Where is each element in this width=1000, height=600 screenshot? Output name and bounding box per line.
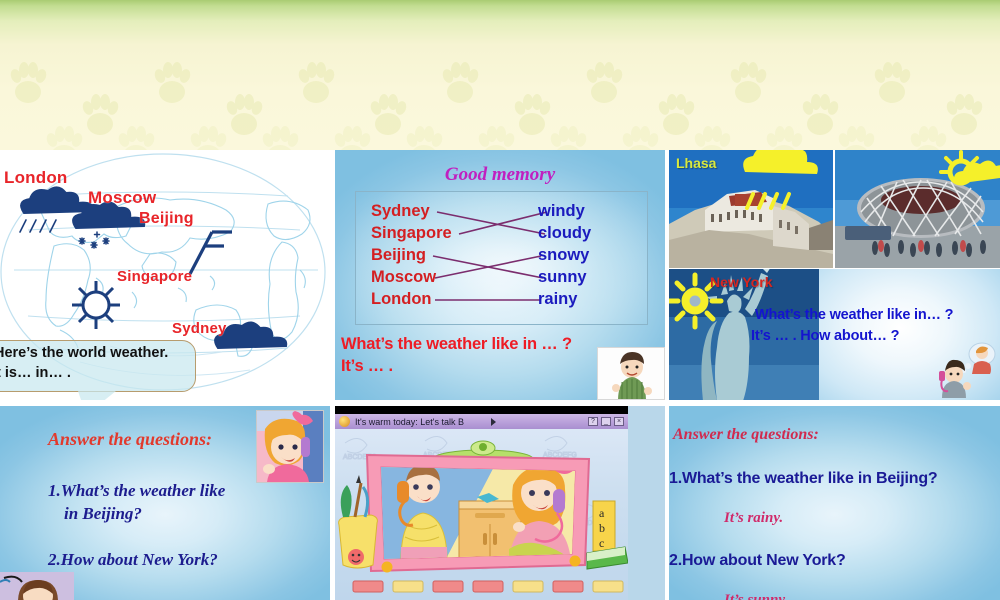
title-bar-arrow-icon[interactable] [491, 418, 496, 426]
memory-prompt-line-2: It’s … . [341, 357, 393, 376]
slide-thumbnail-answer-questions[interactable]: Answer the questions: 1.What’s the weath… [0, 406, 330, 600]
photo-label-new-york: New York [710, 274, 773, 290]
boy-character-thumbnail [597, 347, 665, 400]
questions-slide-background: Answer the questions: 1.What’s the weath… [0, 406, 330, 600]
answers-question-2: 2.How about New York? [669, 552, 846, 570]
answers-answer-2: It’s sunny. [724, 592, 788, 600]
memory-city-singapore: Singapore [371, 224, 452, 243]
svg-text:c: c [599, 536, 604, 550]
world-map-background: London Moscow Beijing Singapore Sydney H… [0, 150, 330, 400]
photo-label-lhasa: Lhasa [676, 155, 716, 171]
map-label-singapore: Singapore [117, 268, 192, 285]
cartoon-scene: ABCDEFG ABCDEFG ABCDEFG ABCDEFG [335, 429, 628, 600]
question-1-line-2: in Beijing? [64, 504, 142, 524]
memory-weather-windy: windy [538, 202, 585, 221]
help-button[interactable]: ? [588, 417, 598, 426]
memory-city-sydney: Sydney [371, 202, 430, 221]
close-button[interactable]: × [614, 417, 624, 426]
speech-bubble-line-1: Here’s the world weather. [0, 345, 168, 361]
slide-thumbnail-world-map[interactable]: London Moscow Beijing Singapore Sydney H… [0, 150, 330, 400]
snow-cloud-icon-moscow [73, 202, 144, 248]
app-top-black-bar [335, 406, 628, 414]
memory-city-beijing: Beijing [371, 246, 426, 265]
photos-prompt-line-1: What’s the weather like in… ? [755, 307, 953, 323]
minimize-button[interactable]: _ [601, 417, 611, 426]
paw-print-pattern [0, 0, 1000, 150]
sun-icon-singapore [72, 281, 120, 329]
question-2: 2.How about New York? [48, 550, 218, 570]
map-label-london: London [4, 168, 68, 188]
answers-title: Answer the questions: [673, 426, 819, 444]
memory-weather-sunny: sunny [538, 268, 587, 287]
svg-text:a: a [599, 506, 605, 520]
app-title-bar: It's warm today: Let's talk B ? _ × [335, 414, 628, 429]
answers-slide-background: Answer the questions: 1.What’s the weath… [669, 406, 1000, 600]
slide-thumbnail-cartoon-app[interactable]: It's warm today: Let's talk B ? _ × ABCD… [335, 406, 665, 600]
birds-nest-stadium-photo [835, 150, 1000, 268]
memory-prompt-line-1: What’s the weather like in … ? [341, 335, 572, 354]
app-logo-icon [339, 416, 350, 427]
slide-thumbnail-good-memory[interactable]: Good memory Sydney Singapore Beijing Mos… [335, 150, 665, 400]
speech-bubble-tail [78, 391, 116, 400]
memory-slide-background: Good memory Sydney Singapore Beijing Mos… [335, 150, 665, 400]
speech-bubble-line-2: It is… in… . [0, 365, 71, 381]
answers-answer-1: It’s rainy. [724, 510, 783, 527]
photos-prompt-line-2: It’s … . How about… ? [751, 328, 899, 344]
map-label-moscow: Moscow [88, 188, 156, 208]
map-label-sydney: Sydney [172, 320, 227, 337]
questions-title: Answer the questions: [48, 429, 212, 450]
boy-on-phone-thumbnail [932, 340, 996, 398]
map-label-beijing: Beijing [139, 210, 194, 228]
memory-city-moscow: Moscow [371, 268, 436, 287]
slide-right-margin [628, 406, 665, 600]
answers-question-1: 1.What’s the weather like in Beijing? [669, 470, 938, 488]
app-window-title: It's warm today: Let's talk B [355, 417, 464, 427]
decorative-top-band [0, 0, 1000, 150]
memory-weather-snowy: snowy [538, 246, 589, 265]
svg-text:b: b [599, 521, 605, 535]
boy-character-thumbnail [0, 572, 74, 600]
memory-weather-cloudy: cloudy [538, 224, 591, 243]
memory-weather-rainy: rainy [538, 290, 577, 309]
slide-thumbnail-city-photos[interactable]: Lhasa New York What’s the weather like i… [669, 150, 1000, 400]
question-1-line-1: 1.What’s the weather like [48, 481, 225, 501]
girl-on-phone-thumbnail [256, 410, 324, 483]
memory-city-london: London [371, 290, 431, 309]
slide-thumbnail-answers[interactable]: Answer the questions: 1.What’s the weath… [669, 406, 1000, 600]
